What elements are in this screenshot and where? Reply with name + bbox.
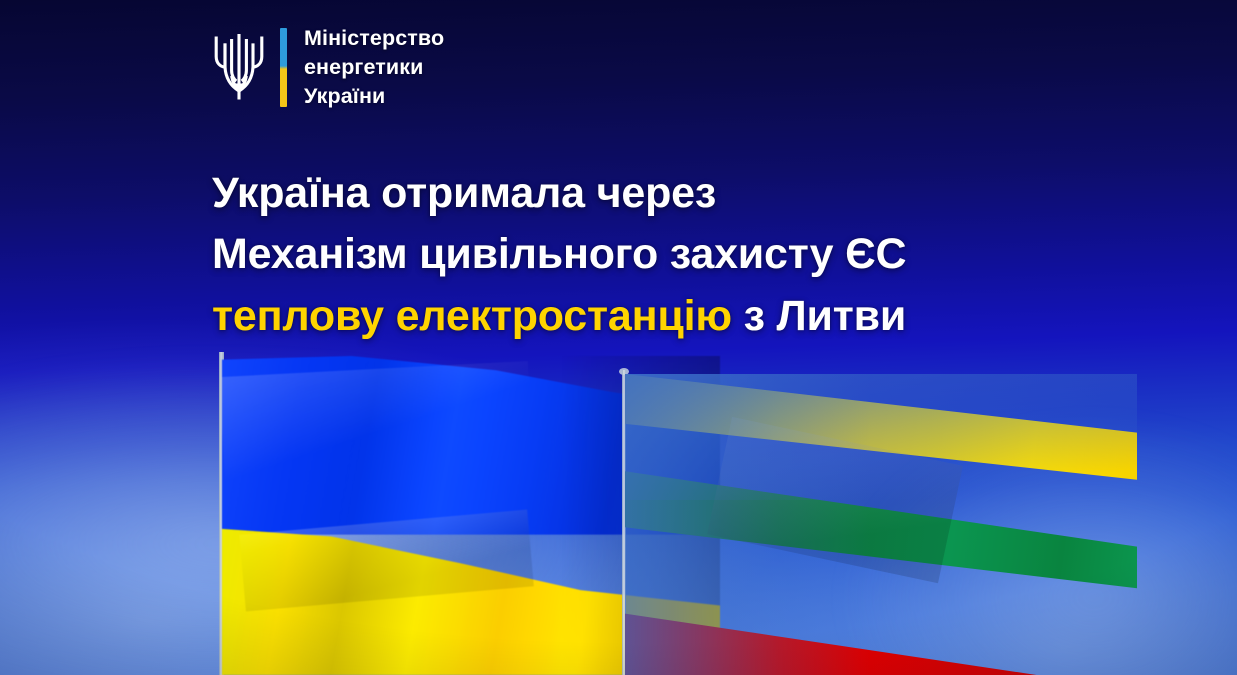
headline-line-3-tail: з Литви [732, 292, 906, 340]
ukraine-flag-fold-highlight [222, 361, 533, 485]
logo-line-1: Міністерство [304, 26, 444, 50]
logo-line-2: енергетики [304, 55, 423, 79]
poster-canvas: Міністерство енергетики України Україна … [0, 0, 1237, 675]
logo-line-3: України [304, 84, 385, 108]
headline-block: Україна отримала через Механізм цивільно… [212, 163, 1112, 347]
headline-line-3: теплову електростанцію з Литви [212, 286, 1112, 347]
lithuania-flag [625, 374, 1137, 675]
ukrainian-trident-icon [212, 30, 266, 104]
lithuania-flag-hoist-fade [625, 374, 1137, 675]
headline-line-2: Механізм цивільного захисту ЄС [212, 224, 1112, 285]
headline-highlight: теплову електростанцію [212, 292, 732, 340]
ministry-logo: Міністерство енергетики України [212, 24, 444, 110]
headline-line-1: Україна отримала через [212, 163, 1112, 224]
ukraine-flag-bar-icon [280, 28, 287, 107]
ministry-logo-text: Міністерство енергетики України [304, 24, 444, 110]
